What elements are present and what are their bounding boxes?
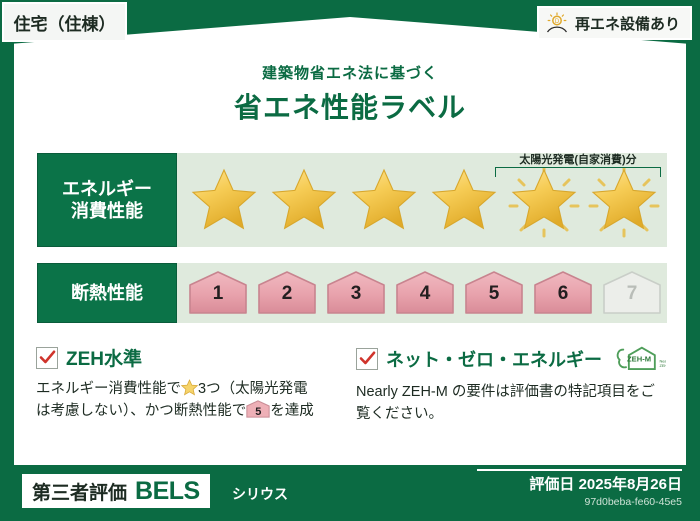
insulation-level-number: 7 bbox=[601, 283, 663, 305]
insulation-key-label: 断熱性能 bbox=[71, 282, 143, 305]
insulation-level-3: 3 bbox=[325, 270, 387, 316]
evaluation-date: 評価日 2025年8月26日 bbox=[529, 473, 682, 494]
insulation-level-6: 6 bbox=[532, 270, 594, 316]
insulation-performance-key: 断熱性能 bbox=[37, 263, 177, 323]
document-id: 97d0beba-fe60-45e5 bbox=[529, 496, 682, 508]
star-1 bbox=[187, 166, 261, 240]
bels-logo-text: BELS bbox=[135, 477, 200, 506]
insulation-level-scale: 1234567 bbox=[187, 270, 663, 316]
insulation-level-number: 3 bbox=[325, 283, 387, 305]
zeh-standard-checkbox bbox=[36, 347, 58, 369]
insulation-level-4: 4 bbox=[394, 270, 456, 316]
zeh-standard-body: エネルギー消費性能で 3つ（太陽光発電 は考慮しない）、かつ断熱性能で 5 を達… bbox=[36, 378, 336, 423]
sun-icon: D bbox=[545, 12, 569, 34]
label-title: 省エネ性能ラベル bbox=[0, 86, 700, 126]
inline-house-number: 5 bbox=[246, 404, 270, 421]
star-4 bbox=[427, 166, 501, 240]
energy-key-line2: 消費性能 bbox=[71, 200, 143, 223]
evaluation-meta: 評価日 2025年8月26日 97d0beba-fe60-45e5 bbox=[529, 473, 682, 508]
zeh-standard-title: ZEH水準 bbox=[66, 344, 142, 371]
evaluation-date-value: 2025年8月26日 bbox=[579, 476, 682, 493]
dwelling-type-tab: 住宅（住棟） bbox=[2, 2, 127, 42]
dwelling-type-label: 住宅（住棟） bbox=[14, 10, 116, 35]
svg-text:ZEH-M: ZEH-M bbox=[627, 355, 651, 364]
energy-performance-key: エネルギー 消費性能 bbox=[37, 153, 177, 247]
insulation-level-number: 6 bbox=[532, 283, 594, 305]
energy-key-line1: エネルギー bbox=[62, 178, 152, 201]
net-zero-heading: ネット・ゼロ・エネルギー ZEH-M Nearly ZEH-M bbox=[356, 344, 676, 374]
insulation-level-5: 5 bbox=[463, 270, 525, 316]
star-3 bbox=[347, 166, 421, 240]
insulation-performance-row: 断熱性能 1234567 bbox=[36, 262, 668, 324]
series-name: シリウス bbox=[232, 484, 288, 504]
svg-text:D: D bbox=[555, 19, 560, 25]
insulation-level-number: 1 bbox=[187, 283, 249, 305]
label-footer: 第三者評価 BELS シリウス 評価日 2025年8月26日 97d0beba-… bbox=[0, 465, 700, 521]
star-6 bbox=[587, 166, 661, 240]
insulation-level-1: 1 bbox=[187, 270, 249, 316]
star-rating bbox=[187, 166, 661, 240]
zeh-body-part3: を達成 bbox=[270, 403, 314, 419]
insulation-level-number: 4 bbox=[394, 283, 456, 305]
zeh-standard-note: ZEH水準 エネルギー消費性能で 3つ（太陽光発電 は考慮しない）、かつ断熱性能… bbox=[36, 344, 356, 426]
insulation-level-2: 2 bbox=[256, 270, 318, 316]
renewable-equipment-badge: D 再エネ設備あり bbox=[537, 6, 692, 40]
net-zero-checkbox bbox=[356, 348, 378, 370]
solar-annotation-bracket bbox=[495, 167, 661, 177]
title-block: 建築物省エネ法に基づく 省エネ性能ラベル bbox=[0, 62, 700, 126]
zeh-m-logo-icon: ZEH-M Nearly ZEH-M bbox=[614, 344, 666, 374]
renewable-badge-label: 再エネ設備あり bbox=[575, 13, 680, 34]
star-5 bbox=[507, 166, 581, 240]
energy-performance-label: 住宅（住棟） D 再エネ設備あり bbox=[0, 0, 700, 521]
zeh-body-part1: エネルギー消費性能で bbox=[36, 381, 181, 397]
net-zero-title: ネット・ゼロ・エネルギー bbox=[386, 346, 602, 372]
zeh-standard-heading: ZEH水準 bbox=[36, 344, 356, 371]
inline-house-badge: 5 bbox=[246, 400, 270, 418]
insulation-level-number: 2 bbox=[256, 283, 318, 305]
energy-performance-row: エネルギー 消費性能 太陽光発電(自家消費)分 bbox=[36, 152, 668, 248]
footer-divider bbox=[477, 469, 682, 471]
label-subtitle: 建築物省エネ法に基づく bbox=[0, 62, 700, 83]
zeh-body-star-text: 3つ（太陽光発電 bbox=[198, 381, 308, 397]
criteria-notes: ZEH水準 エネルギー消費性能で 3つ（太陽光発電 は考慮しない）、かつ断熱性能… bbox=[36, 344, 676, 426]
inline-star-icon bbox=[181, 379, 198, 396]
third-party-label: 第三者評価 bbox=[32, 478, 127, 505]
solar-annotation-label: 太陽光発電(自家消費)分 bbox=[493, 151, 663, 167]
net-zero-body: Nearly ZEH-M の要件は評価書の特記項目をご覧ください。 bbox=[356, 381, 656, 426]
third-party-eval-box: 第三者評価 BELS bbox=[22, 474, 210, 508]
net-zero-energy-note: ネット・ゼロ・エネルギー ZEH-M Nearly ZEH-M Nearly Z… bbox=[356, 344, 676, 426]
energy-performance-value: 太陽光発電(自家消費)分 bbox=[177, 153, 667, 247]
svg-text:ZEH-M: ZEH-M bbox=[659, 363, 665, 368]
zeh-body-part2: は考慮しない）、かつ断熱性能で bbox=[36, 403, 246, 419]
insulation-performance-value: 1234567 bbox=[177, 263, 667, 323]
insulation-level-number: 5 bbox=[463, 283, 525, 305]
check-icon bbox=[358, 349, 377, 368]
check-icon bbox=[38, 348, 57, 367]
star-2 bbox=[267, 166, 341, 240]
evaluation-date-label: 評価日 bbox=[529, 476, 574, 493]
insulation-level-7: 7 bbox=[601, 270, 663, 316]
